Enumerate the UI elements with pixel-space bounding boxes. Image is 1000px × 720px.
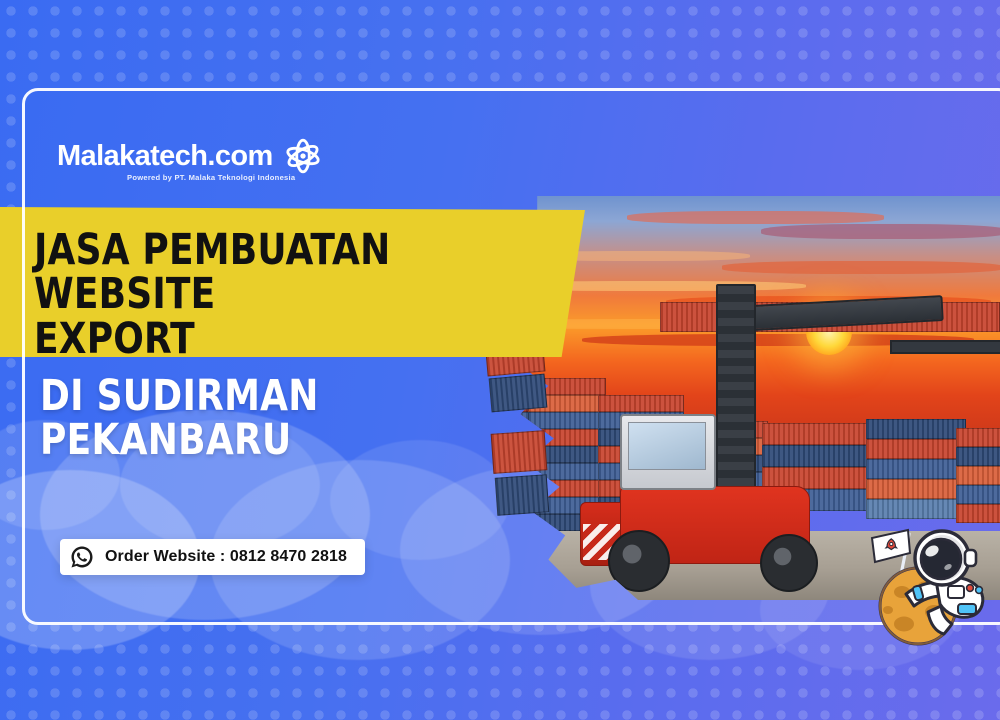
container-fragment — [495, 474, 550, 516]
astronaut-mascot — [862, 520, 1000, 648]
subheadline-line-2: PEKANBARU — [40, 419, 319, 463]
headline-line-1: JASA PEMBUATAN WEBSITE — [34, 228, 471, 317]
cab-window — [628, 422, 706, 470]
promotional-banner: JASA PEMBUATAN WEBSITE EXPORT DI SUDIRMA… — [0, 0, 1000, 720]
spreader — [890, 340, 1000, 354]
order-website-button[interactable]: Order Website : 0812 8470 2818 — [60, 539, 365, 575]
container-fragment — [491, 430, 548, 474]
subheadline-line-1: DI SUDIRMAN — [40, 375, 319, 419]
brand-tagline: Powered by PT. Malaka Teknologi Indonesi… — [127, 173, 295, 182]
brand-logo[interactable]: Malakatech.com Powered by PT. Malaka Tek… — [57, 136, 323, 176]
boom-arm — [733, 295, 944, 332]
whatsapp-icon — [70, 545, 94, 569]
order-website-label: Order Website : 0812 8470 2818 — [105, 548, 347, 566]
atom-orbital-icon — [283, 136, 323, 176]
wheel — [760, 534, 818, 592]
headline: JASA PEMBUATAN WEBSITE EXPORT — [34, 228, 471, 361]
headline-line-2: EXPORT — [34, 317, 471, 361]
container-fragment — [489, 374, 548, 413]
subheadline: DI SUDIRMAN PEKANBARU — [40, 375, 319, 463]
brand-name: Malakatech.com — [57, 142, 273, 171]
